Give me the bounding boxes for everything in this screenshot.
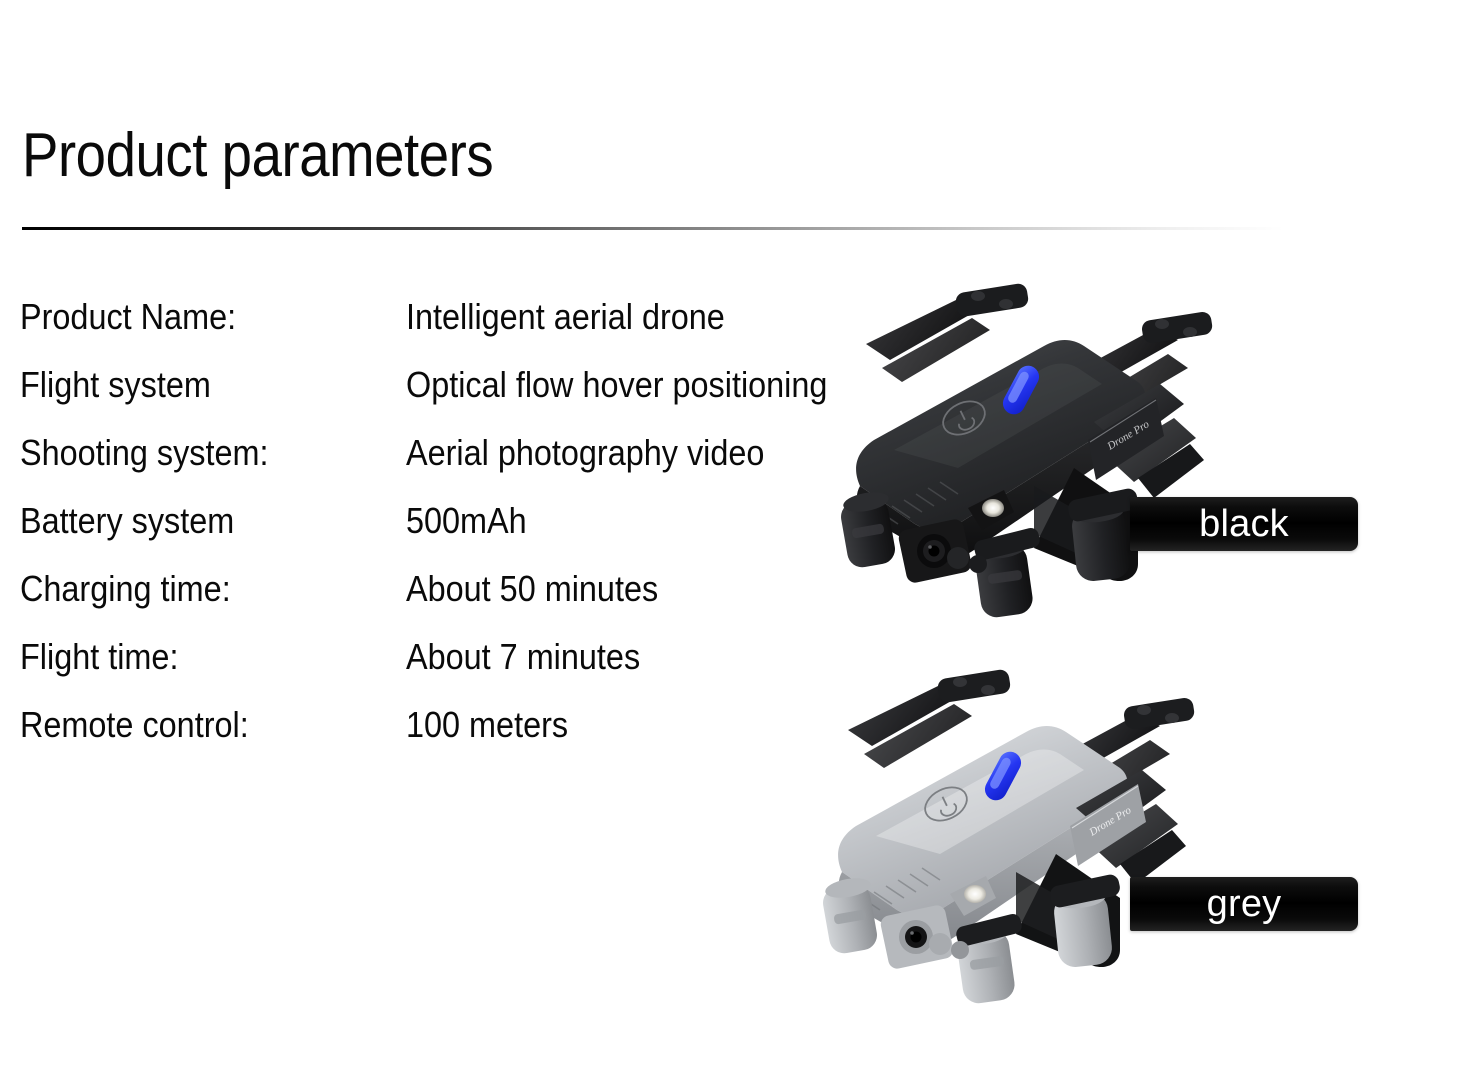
drone-image-grey: Drone Pro [820, 652, 1250, 1012]
landing-gear-front-right [973, 526, 1042, 619]
spec-value: Aerial photography video [406, 428, 764, 478]
hinge [969, 555, 987, 573]
hinge [951, 941, 969, 959]
color-label-text: black [1199, 504, 1289, 544]
spec-row-flight-time: Flight time: About 7 minutes [20, 632, 920, 700]
spec-value: About 7 minutes [406, 632, 640, 682]
spec-label: Charging time: [20, 564, 231, 614]
spec-label: Product Name: [20, 292, 236, 342]
title-divider [22, 227, 1284, 230]
propeller-rear-left [848, 669, 1011, 768]
spec-row-remote-control: Remote control: 100 meters [20, 700, 920, 768]
landing-gear-front-right [955, 912, 1024, 1005]
spec-label: Remote control: [20, 700, 249, 750]
product-parameters-table: Product Name: Intelligent aerial drone F… [20, 292, 920, 768]
color-label-grey: grey [1130, 877, 1358, 931]
spec-value: About 50 minutes [406, 564, 658, 614]
spec-row-flight-system: Flight system Optical flow hover positio… [20, 360, 920, 428]
spec-row-battery-system: Battery system 500mAh [20, 496, 920, 564]
spec-value: Optical flow hover positioning [406, 360, 827, 410]
spec-label: Flight time: [20, 632, 178, 682]
spec-value: 100 meters [406, 700, 568, 750]
spec-row-product-name: Product Name: Intelligent aerial drone [20, 292, 920, 360]
hinge [929, 933, 951, 955]
spec-label: Shooting system: [20, 428, 269, 478]
hinge [947, 547, 969, 569]
color-label-text: grey [1207, 884, 1282, 924]
propeller-rear-left [866, 283, 1029, 382]
color-label-black: black [1130, 497, 1358, 551]
page-title: Product parameters [22, 120, 493, 192]
drone-image-black: Drone Pro [838, 272, 1268, 622]
spec-value: Intelligent aerial drone [406, 292, 725, 342]
spec-value: 500mAh [406, 496, 527, 546]
spec-row-charging-time: Charging time: About 50 minutes [20, 564, 920, 632]
spec-label: Flight system [20, 360, 211, 410]
spec-row-shooting-system: Shooting system: Aerial photography vide… [20, 428, 920, 496]
spec-label: Battery system [20, 496, 234, 546]
